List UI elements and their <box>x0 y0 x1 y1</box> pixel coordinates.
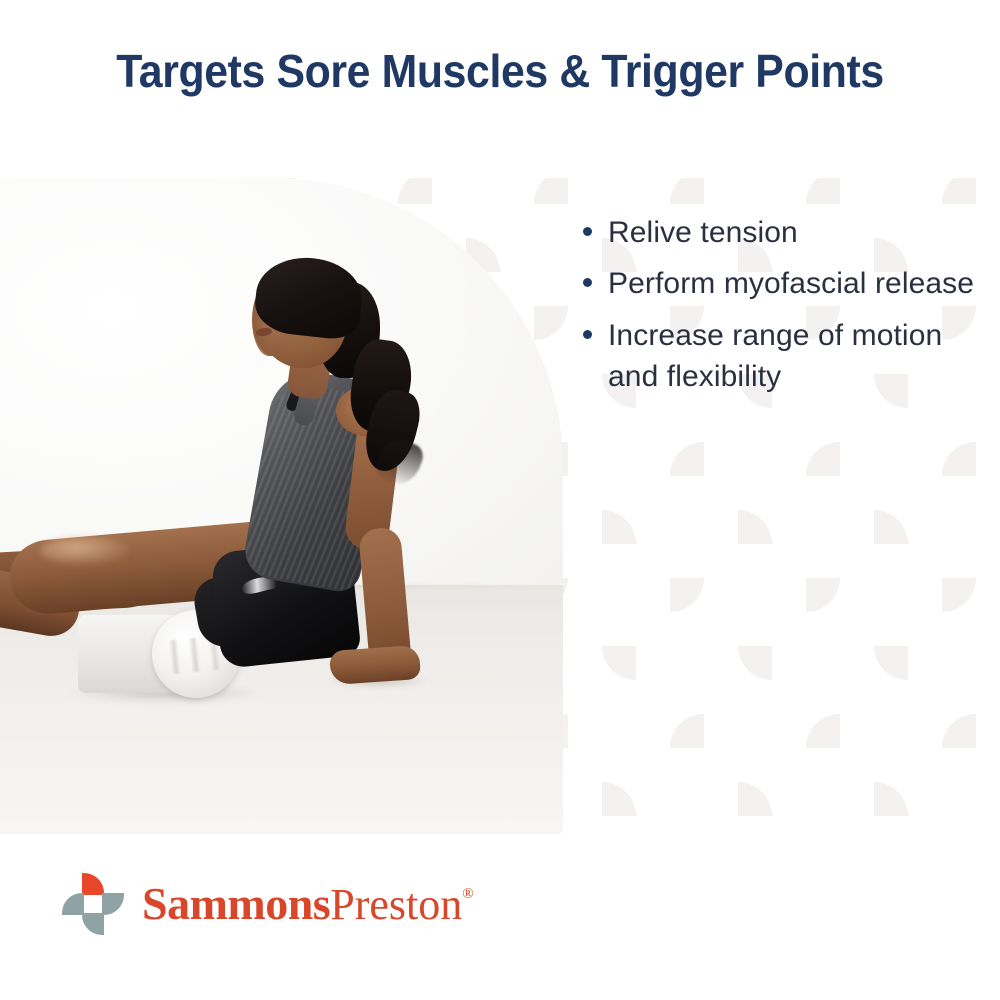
watermark-tile <box>942 178 976 204</box>
registered-trademark-symbol: ® <box>462 887 473 902</box>
bullet-dot-icon <box>583 278 592 287</box>
list-item: Relive tension <box>583 212 983 253</box>
benefits-list: Relive tension Perform myofascial releas… <box>583 212 983 408</box>
watermark-tile <box>602 646 636 680</box>
list-item: Perform myofascial release <box>583 263 983 304</box>
knee-highlight <box>40 536 130 566</box>
watermark-tile <box>806 178 840 204</box>
watermark-tile <box>670 714 704 748</box>
watermark-tile <box>806 442 840 476</box>
cross-quadrant-right-icon <box>102 893 124 915</box>
watermark-tile <box>942 442 976 476</box>
cross-quadrant-bottom-icon <box>82 913 104 935</box>
watermark-tile <box>874 782 908 816</box>
benefit-text: Relive tension <box>608 212 798 253</box>
brand-logo: Sammons Preston ® <box>62 873 474 935</box>
watermark-tile <box>738 510 772 544</box>
watermark-tile <box>670 442 704 476</box>
watermark-tile <box>738 782 772 816</box>
page-title: Targets Sore Muscles & Trigger Points <box>35 46 965 97</box>
brand-name-primary: Sammons <box>142 881 330 927</box>
sammons-preston-cross-icon <box>62 873 124 935</box>
model-figure <box>0 178 563 834</box>
watermark-tile <box>942 714 976 748</box>
watermark-tile <box>670 578 704 612</box>
bullet-dot-icon <box>583 330 592 339</box>
watermark-tile <box>874 510 908 544</box>
list-item: Increase range of motion and flexibility <box>583 315 983 398</box>
watermark-tile <box>602 782 636 816</box>
benefit-text: Increase range of motion and flexibility <box>608 315 983 398</box>
watermark-tile <box>806 578 840 612</box>
product-photo <box>0 178 563 834</box>
watermark-tile <box>942 578 976 612</box>
cross-quadrant-top-icon <box>82 873 104 895</box>
bullet-dot-icon <box>583 227 592 236</box>
product-feature-card: Targets Sore Muscles & Trigger Points <box>0 0 1000 1000</box>
cross-quadrant-left-icon <box>62 893 84 915</box>
hand <box>329 645 421 685</box>
watermark-tile <box>874 646 908 680</box>
benefit-text: Perform myofascial release <box>608 263 974 304</box>
watermark-tile <box>806 714 840 748</box>
watermark-tile <box>670 178 704 204</box>
watermark-tile <box>738 646 772 680</box>
brand-name-secondary: Preston <box>330 883 462 927</box>
brand-wordmark: Sammons Preston ® <box>142 881 474 927</box>
watermark-tile <box>602 510 636 544</box>
